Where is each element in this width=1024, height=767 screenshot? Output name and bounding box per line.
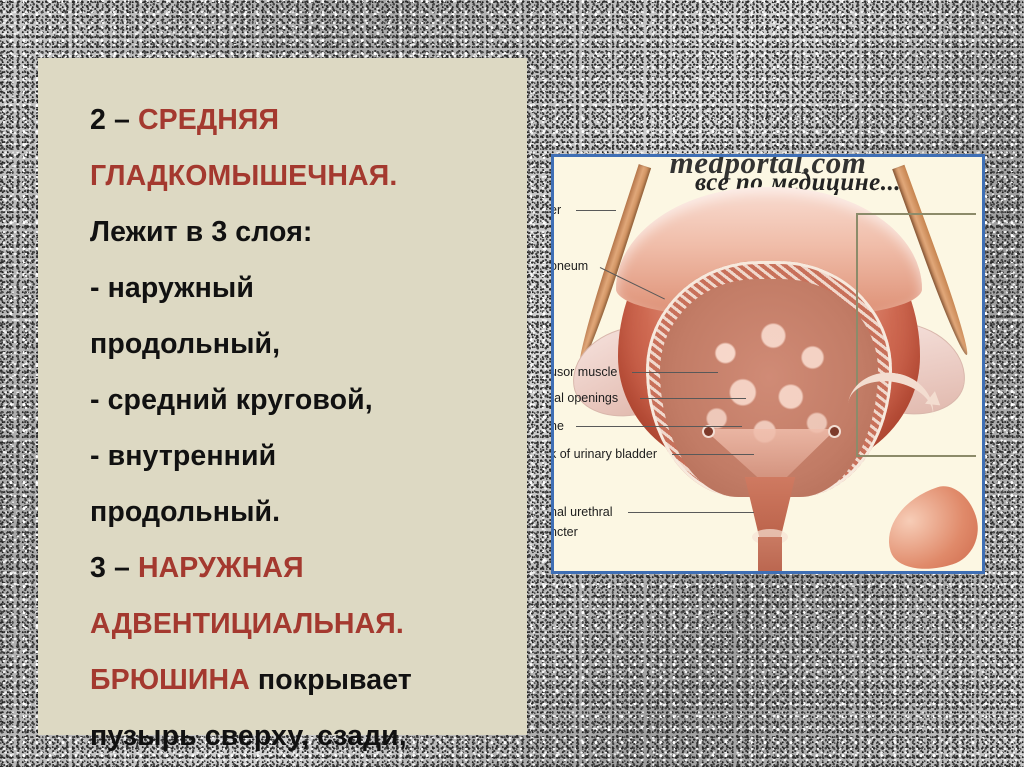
line-accent: ГЛАДКОМЫШЕЧНАЯ. [90, 160, 397, 192]
line-prefix: 2 – [90, 104, 138, 136]
line-prefix: Лежит в 3 слоя: [90, 216, 313, 248]
text-line-5: продольный, [90, 316, 509, 372]
line-prefix: продольный, [90, 328, 280, 360]
leader-line-sphincter [628, 512, 754, 513]
text-line-4: - наружный [90, 260, 509, 316]
line-prefix: 3 – [90, 552, 138, 584]
leader-line-ureter [576, 210, 616, 211]
illustration-frame: medportal.com все по медицине... er oneu… [551, 154, 985, 574]
line-accent: СРЕДНЯЯ [138, 104, 279, 136]
line-accent: НАРУЖНАЯ [138, 552, 304, 584]
line-prefix: пузырь сверху, сзади, [90, 720, 407, 752]
label-internal-urethral: nal urethral [554, 505, 613, 519]
text-line-1: 2 – СРЕДНЯЯ [90, 92, 509, 148]
text-line-9: 3 – НАРУЖНАЯ [90, 540, 509, 596]
text-line-10: АДВЕНТИЦИАЛЬНАЯ. [90, 596, 509, 652]
label-ureter: er [554, 203, 561, 217]
label-peritoneum: oneum [554, 259, 588, 273]
leader-line-neck [672, 454, 754, 455]
line-accent: БРЮШИНА [90, 664, 250, 696]
watermark-top-text: medportal.com [554, 157, 982, 181]
text-panel: 2 – СРЕДНЯЯ ГЛАДКОМЫШЕЧНАЯ. Лежит в 3 сл… [38, 58, 527, 735]
text-line-2: ГЛАДКОМЫШЕЧНАЯ. [90, 148, 509, 204]
label-sphincter: ncter [554, 525, 578, 539]
line-prefix: - средний круговой, [90, 384, 373, 416]
text-line-12: пузырь сверху, сзади, [90, 708, 509, 764]
text-line-7: - внутренний [90, 428, 509, 484]
line-prefix: продольный. [90, 496, 280, 528]
urethra [758, 537, 782, 571]
slide-canvas: 2 – СРЕДНЯЯ ГЛАДКОМЫШЕЧНАЯ. Лежит в 3 сл… [0, 0, 1024, 767]
label-trigone: ne [554, 419, 564, 433]
label-detrusor-muscle: usor muscle [554, 365, 617, 379]
text-line-3: Лежит в 3 слоя: [90, 204, 509, 260]
ureteral-opening-left-icon [704, 427, 713, 436]
leader-line-trigone [576, 426, 742, 427]
text-line-6: - средний круговой, [90, 372, 509, 428]
leader-line-detrusor [632, 372, 718, 373]
line-prefix: - внутренний [90, 440, 276, 472]
line-suffix: покрывает [250, 664, 412, 696]
line-accent: АДВЕНТИЦИАЛЬНАЯ. [90, 608, 404, 640]
line-prefix: - наружный [90, 272, 254, 304]
label-neck-of-urinary-bladder: k of urinary bladder [554, 447, 657, 461]
label-ureteral-openings: ral openings [554, 391, 618, 405]
lower-right-anatomy-fragment [876, 479, 982, 571]
text-line-11: БРЮШИНА покрывает [90, 652, 509, 708]
text-line-8: продольный. [90, 484, 509, 540]
leader-line-ureteral-openings [640, 398, 746, 399]
bladder-anatomy-image: medportal.com все по медицине... er oneu… [554, 157, 982, 571]
ureteral-opening-right-icon [830, 427, 839, 436]
